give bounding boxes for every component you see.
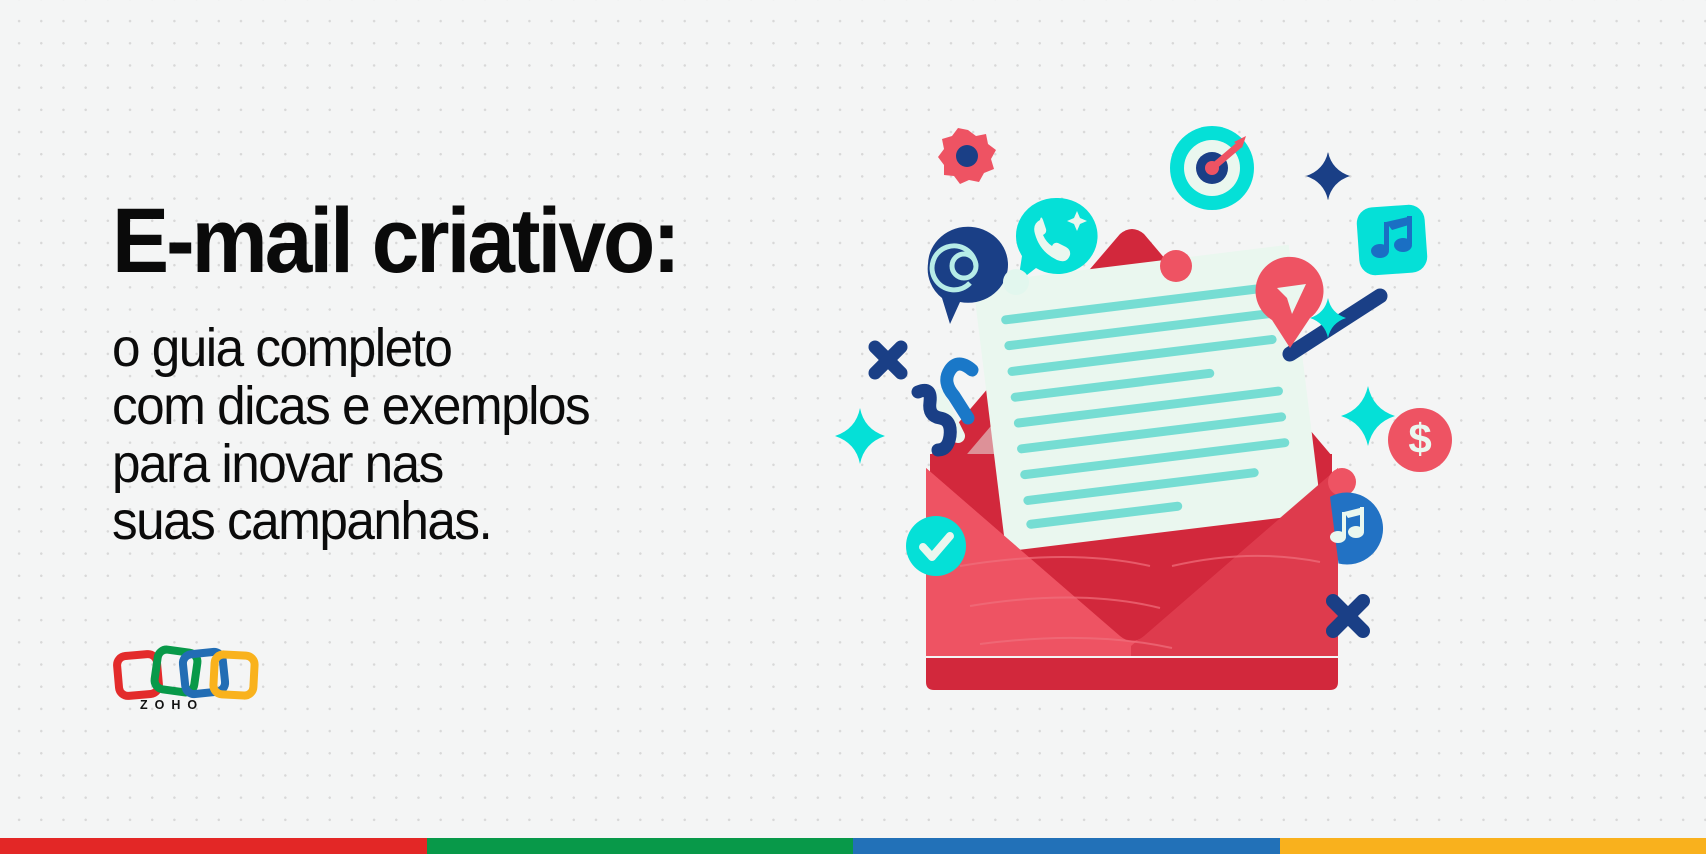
target-dart-icon [1170, 126, 1254, 210]
dot-coral-icon [1328, 468, 1356, 496]
sparkle-cyan-icon [1341, 386, 1395, 446]
dot-mint-icon [1003, 269, 1029, 295]
subtitle-line-3: para inovar nas [112, 436, 834, 494]
envelope-illustration-svg: $ [820, 96, 1480, 716]
subtitle-line-4: suas campanhas. [112, 493, 834, 551]
page-subtitle: o guia completo com dicas e exemplos par… [112, 320, 834, 551]
bar-segment-green [427, 838, 854, 854]
check-circle-icon [906, 516, 966, 576]
envelope-bottom-edge [926, 658, 1338, 690]
sparkle-cyan-icon [835, 408, 885, 464]
music-note-tile-icon [1356, 204, 1429, 277]
banner-canvas: E-mail criativo: o guia completo com dic… [0, 0, 1706, 854]
zoho-wordmark: ZOHO [140, 698, 204, 712]
svg-text:$: $ [1408, 415, 1431, 462]
bar-segment-red [0, 838, 427, 854]
phone-speech-bubble-icon [1016, 198, 1098, 282]
gear-icon [938, 128, 996, 184]
cross-x-navy-icon [875, 347, 901, 373]
envelope-illustration: $ [820, 96, 1480, 716]
bar-segment-blue [853, 838, 1280, 854]
zoho-logo: ZOHO [112, 643, 262, 715]
sparkle-navy-icon [1306, 152, 1350, 200]
dollar-circle-icon: $ [1388, 408, 1452, 472]
text-block: E-mail criativo: o guia completo com dic… [112, 196, 872, 551]
zoho-logo-icon [112, 643, 262, 703]
subtitle-line-2: com dicas e exemplos [112, 378, 834, 436]
page-title: E-mail criativo: [112, 196, 819, 286]
subtitle-line-1: o guia completo [112, 320, 834, 378]
dot-coral-icon [1160, 250, 1192, 282]
bottom-color-bar [0, 838, 1706, 854]
bar-segment-yellow [1280, 838, 1706, 854]
